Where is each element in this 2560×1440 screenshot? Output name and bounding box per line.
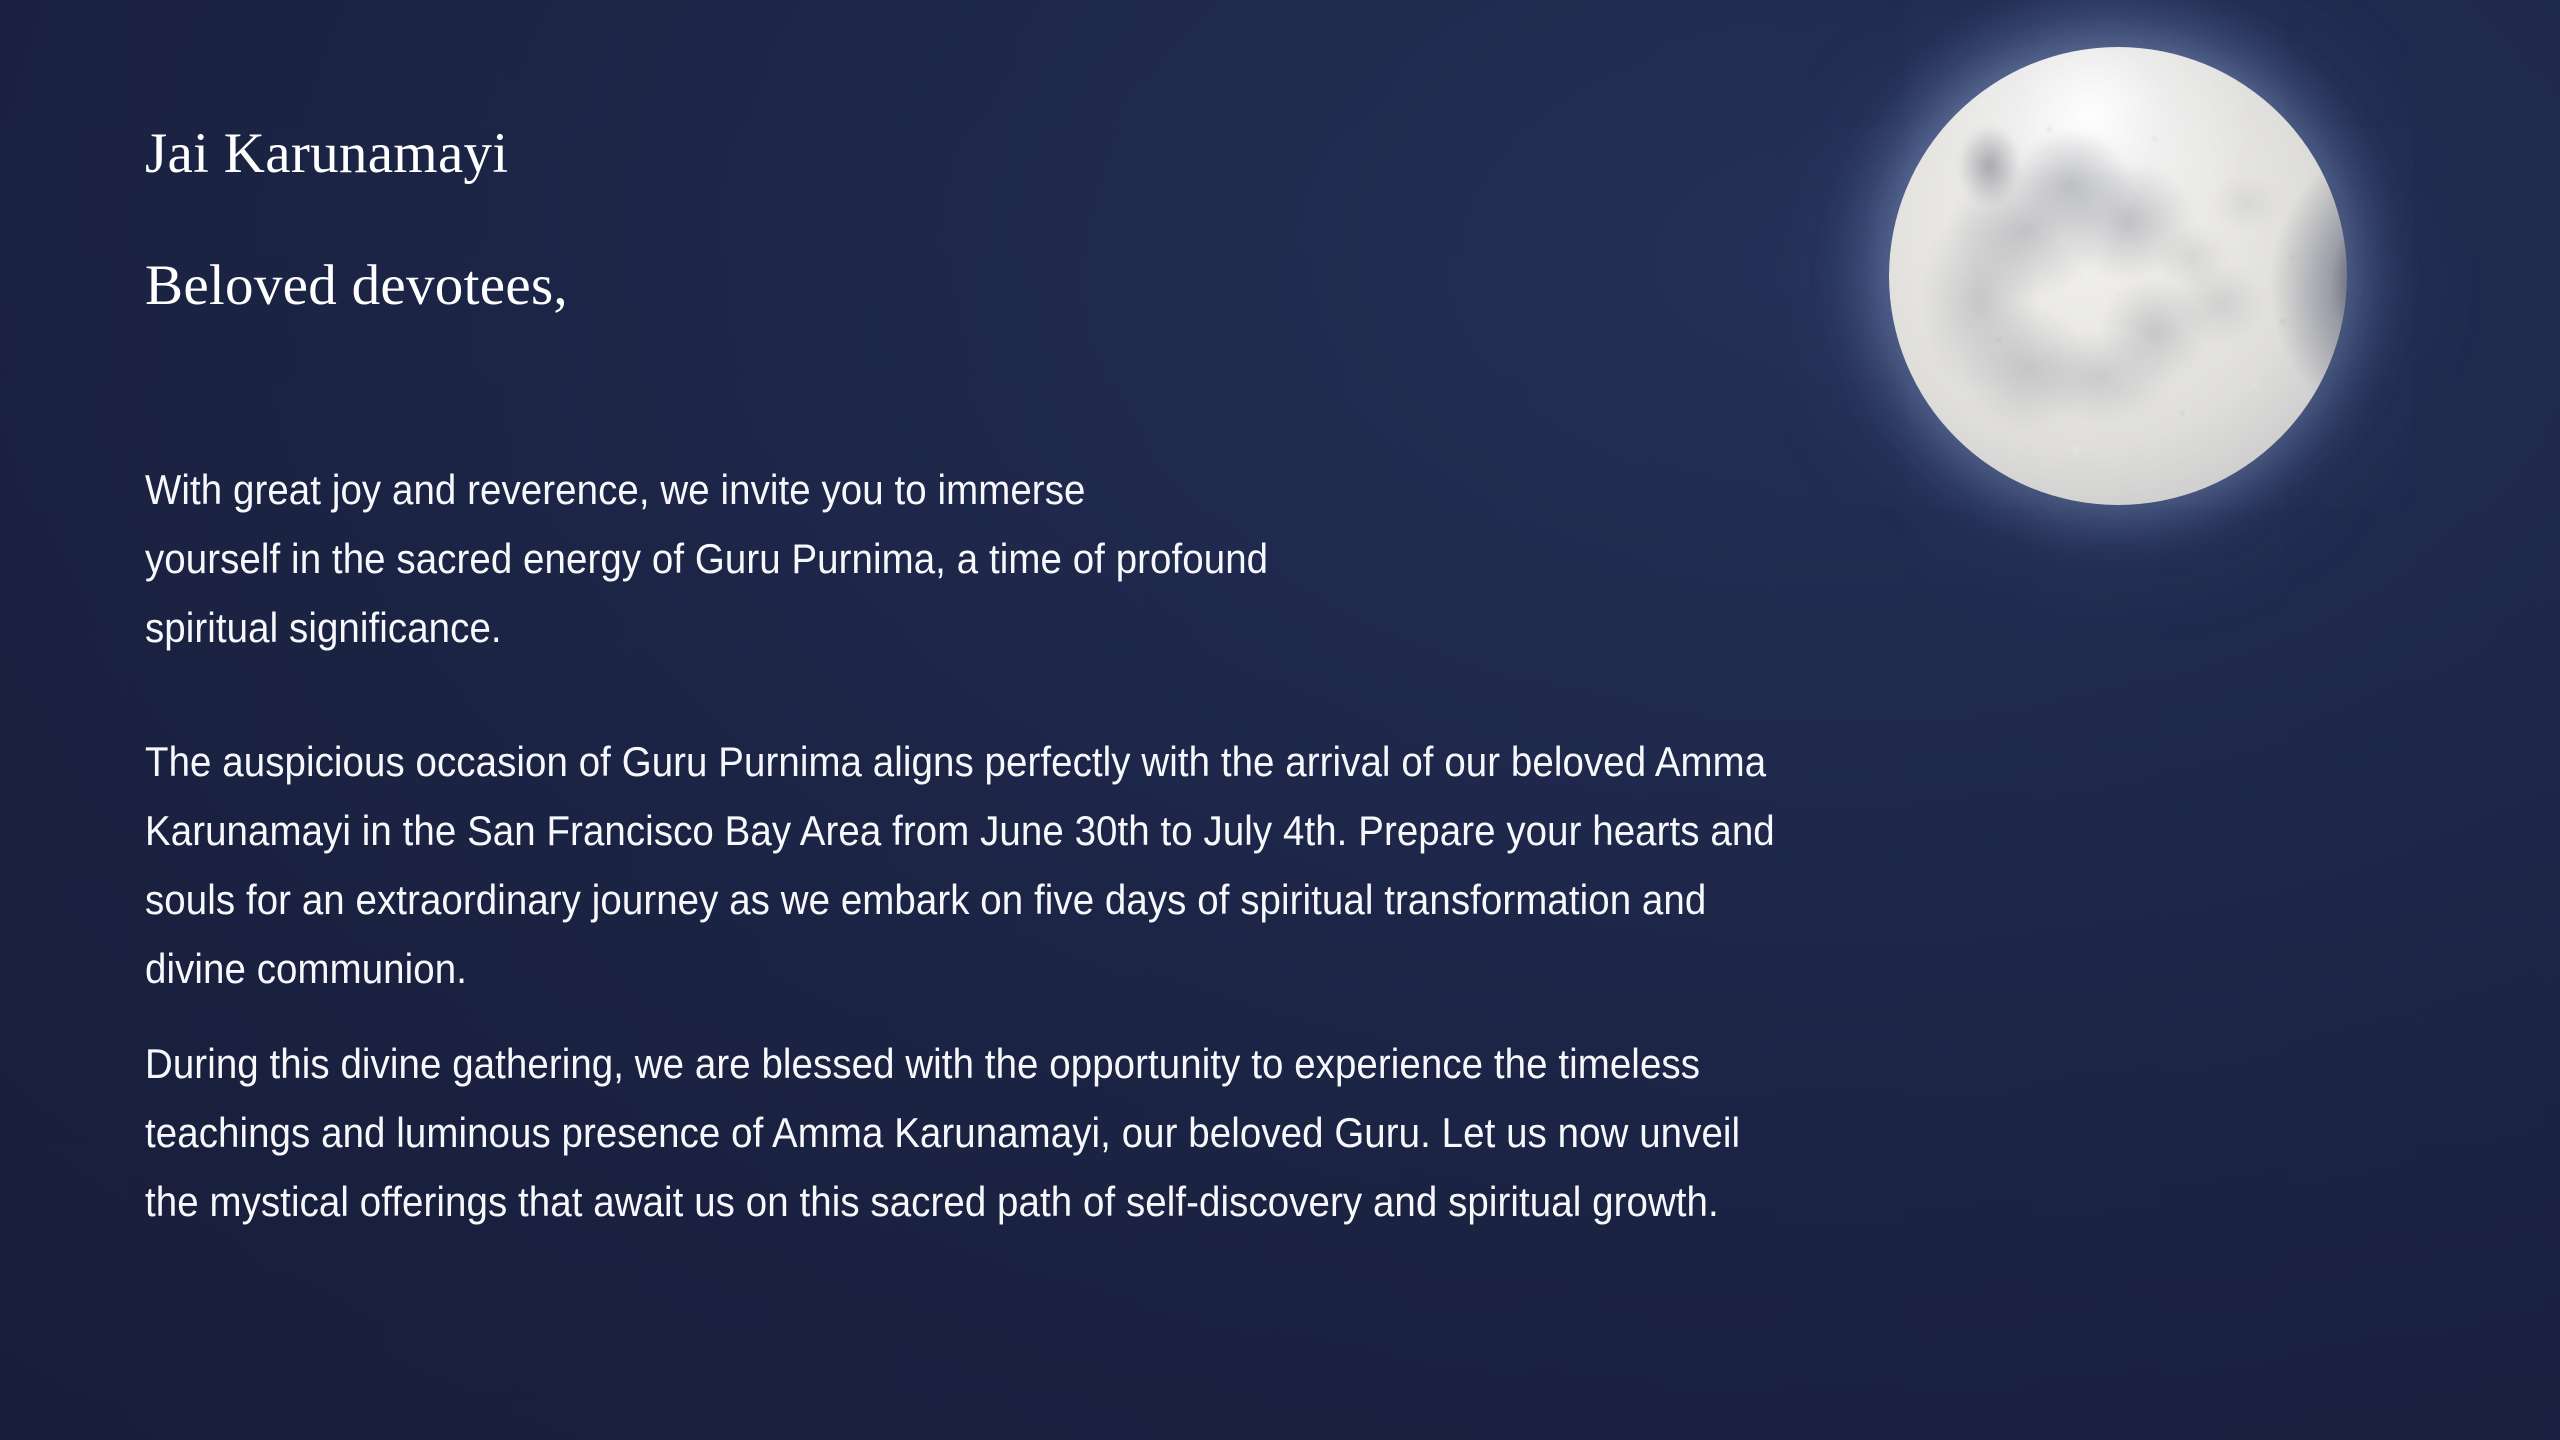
greeting-heading: Beloved devotees, — [145, 256, 568, 316]
body-paragraph-2: The auspicious occasion of Guru Purnima … — [145, 727, 2204, 1003]
body-paragraph-1: With great joy and reverence, we invite … — [145, 455, 2067, 662]
slide-canvas: Jai Karunamayi Beloved devotees, With gr… — [0, 0, 2560, 1440]
salutation-heading: Jai Karunamayi — [145, 124, 508, 184]
text-column: Jai Karunamayi Beloved devotees, With gr… — [145, 0, 2445, 1440]
body-paragraph-3: During this divine gathering, we are ble… — [145, 1029, 2204, 1236]
